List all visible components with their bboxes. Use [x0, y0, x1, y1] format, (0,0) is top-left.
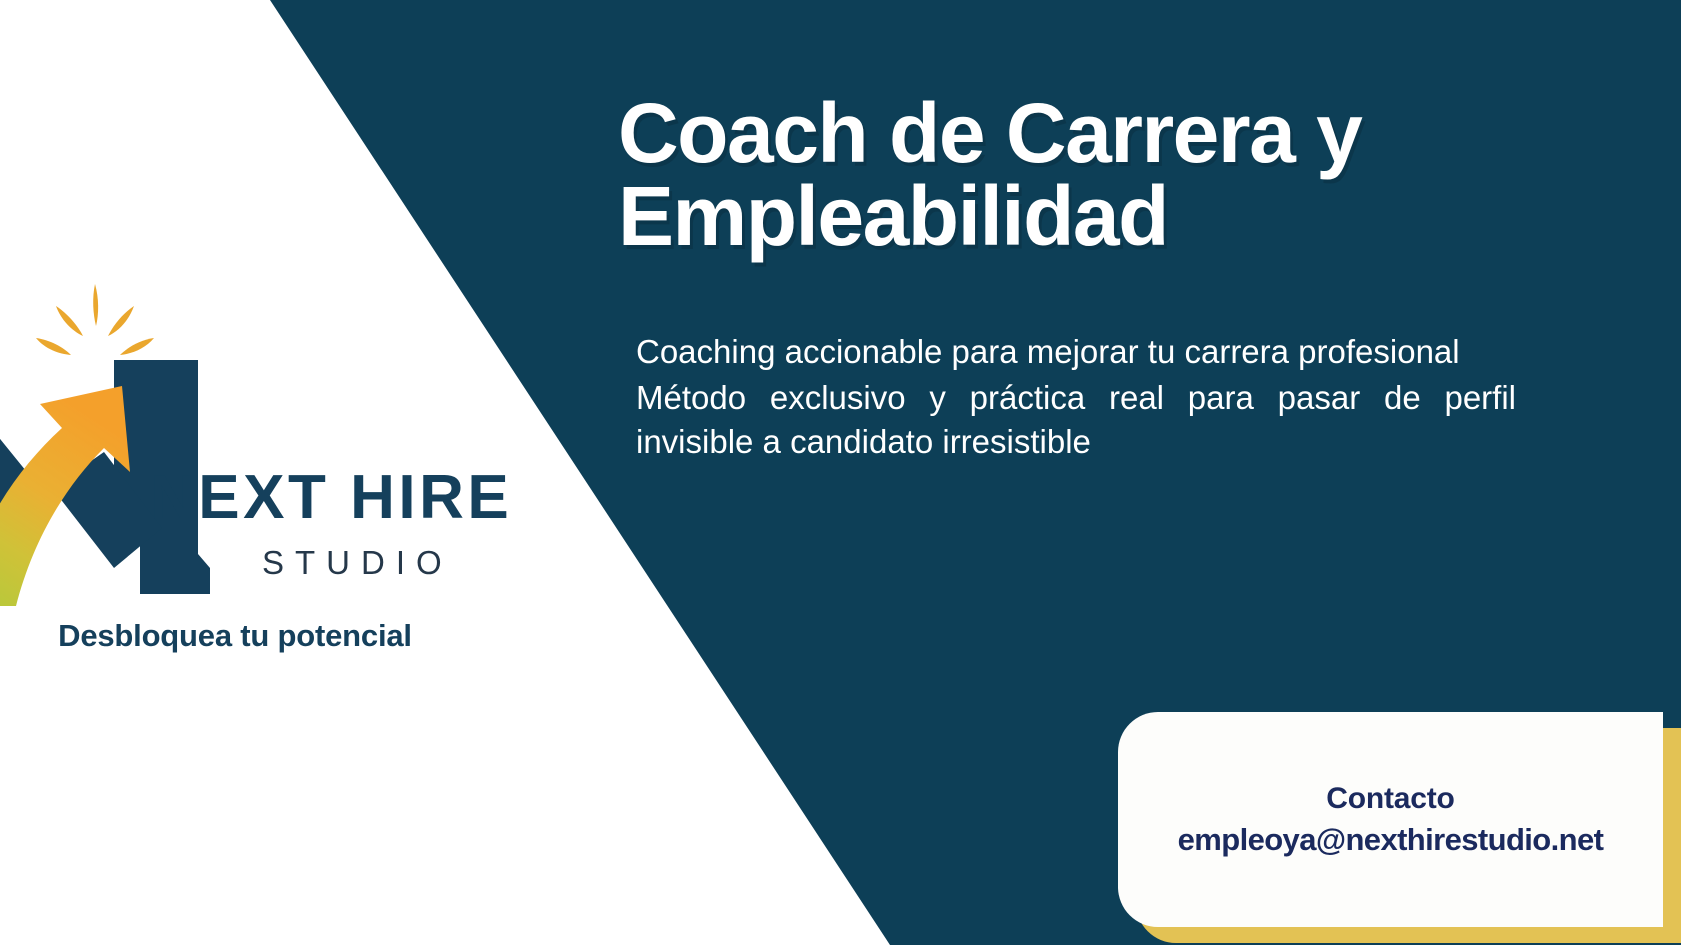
logo-brand-secondary: STUDIO — [262, 544, 453, 581]
next-hire-studio-logo: NEXT HIRE STUDIO — [0, 276, 534, 606]
brand-tagline: Desbloquea tu potencial — [0, 618, 470, 654]
subheadline-paragraph-1: Coaching accionable para mejorar tu carr… — [636, 330, 1516, 374]
brand-column: NEXT HIRE STUDIO Desbloquea tu potencial — [0, 0, 560, 945]
contact-card-surface[interactable]: Contacto empleoya@nexthirestudio.net — [1118, 712, 1663, 927]
logo-brand-primary: NEXT HIRE — [150, 463, 512, 532]
page-title-line-1: Coach de Carrera y — [618, 86, 1361, 180]
page-title-line-2: Empleabilidad — [618, 169, 1168, 263]
starburst-icon — [36, 284, 154, 355]
subheadline-block: Coaching accionable para mejorar tu carr… — [636, 330, 1516, 464]
contact-email[interactable]: empleoya@nexthirestudio.net — [1178, 822, 1604, 858]
subheadline-paragraph-2: Método exclusivo y práctica real para pa… — [636, 376, 1516, 464]
page-title: Coach de Carrera y Empleabilidad — [618, 92, 1628, 258]
contact-label: Contacto — [1326, 782, 1454, 816]
contact-card[interactable]: Contacto empleoya@nexthirestudio.net — [1118, 712, 1681, 945]
promo-banner: NEXT HIRE STUDIO Desbloquea tu potencial… — [0, 0, 1681, 945]
logo-svg: NEXT HIRE STUDIO — [0, 276, 534, 606]
